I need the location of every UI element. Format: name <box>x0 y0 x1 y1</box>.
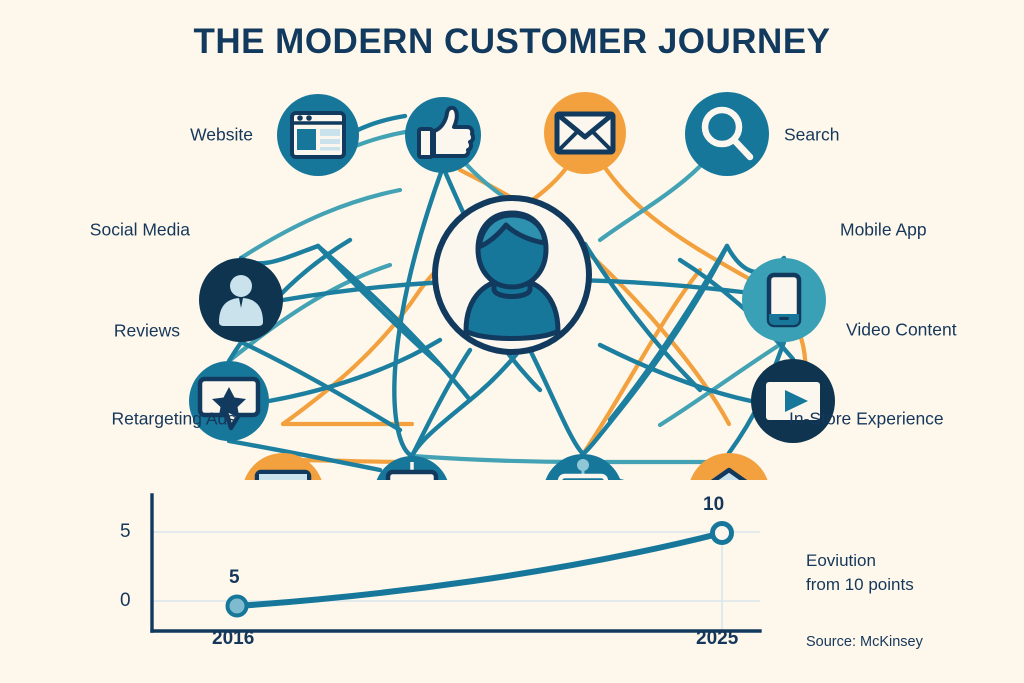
chart-line <box>237 533 722 606</box>
y-tick-0: 0 <box>120 590 131 612</box>
label-social-media: Social Media <box>90 221 190 239</box>
label-mobile-app: Mobile App <box>840 221 927 239</box>
chart-annotation-line-1: Eoviution <box>806 550 876 573</box>
point-label-2025: 10 <box>703 494 724 516</box>
infographic-page: THE MODERN CUSTOMER JOURNEY <box>0 0 1024 683</box>
node-reviews[interactable] <box>189 361 269 441</box>
chart-point-2016[interactable] <box>228 597 247 616</box>
node-mobile-app[interactable] <box>742 258 826 342</box>
x-tick-2025: 2025 <box>696 628 738 650</box>
chart-source: Source: McKinsey <box>806 634 923 650</box>
x-tick-2016: 2016 <box>212 628 254 650</box>
node-social-media[interactable] <box>199 258 283 342</box>
label-website: Website <box>190 126 253 144</box>
chart-point-2025[interactable] <box>713 524 732 543</box>
search-circle <box>685 92 769 176</box>
browser-window-icon <box>292 113 344 157</box>
customer-avatar <box>435 198 589 352</box>
node-likes[interactable] <box>405 97 481 173</box>
chart-annotation-line-2: from 10 points <box>806 574 914 597</box>
label-retargeting-ads: Retargeting Ads <box>111 410 236 428</box>
point-label-2016: 5 <box>229 567 240 589</box>
node-email[interactable] <box>544 92 626 174</box>
node-search[interactable] <box>685 92 769 176</box>
node-website[interactable] <box>277 94 359 176</box>
node-video-content[interactable] <box>751 359 835 443</box>
page-title: THE MODERN CUSTOMER JOURNEY <box>0 22 1024 62</box>
label-search: Search <box>784 126 839 144</box>
label-in-store: In-Store Experience <box>789 410 944 428</box>
label-reviews: Reviews <box>114 322 180 340</box>
label-video-content: Video Content <box>846 321 957 339</box>
smartphone-icon <box>769 275 799 325</box>
envelope-icon <box>557 114 613 152</box>
y-tick-5: 5 <box>120 521 131 543</box>
